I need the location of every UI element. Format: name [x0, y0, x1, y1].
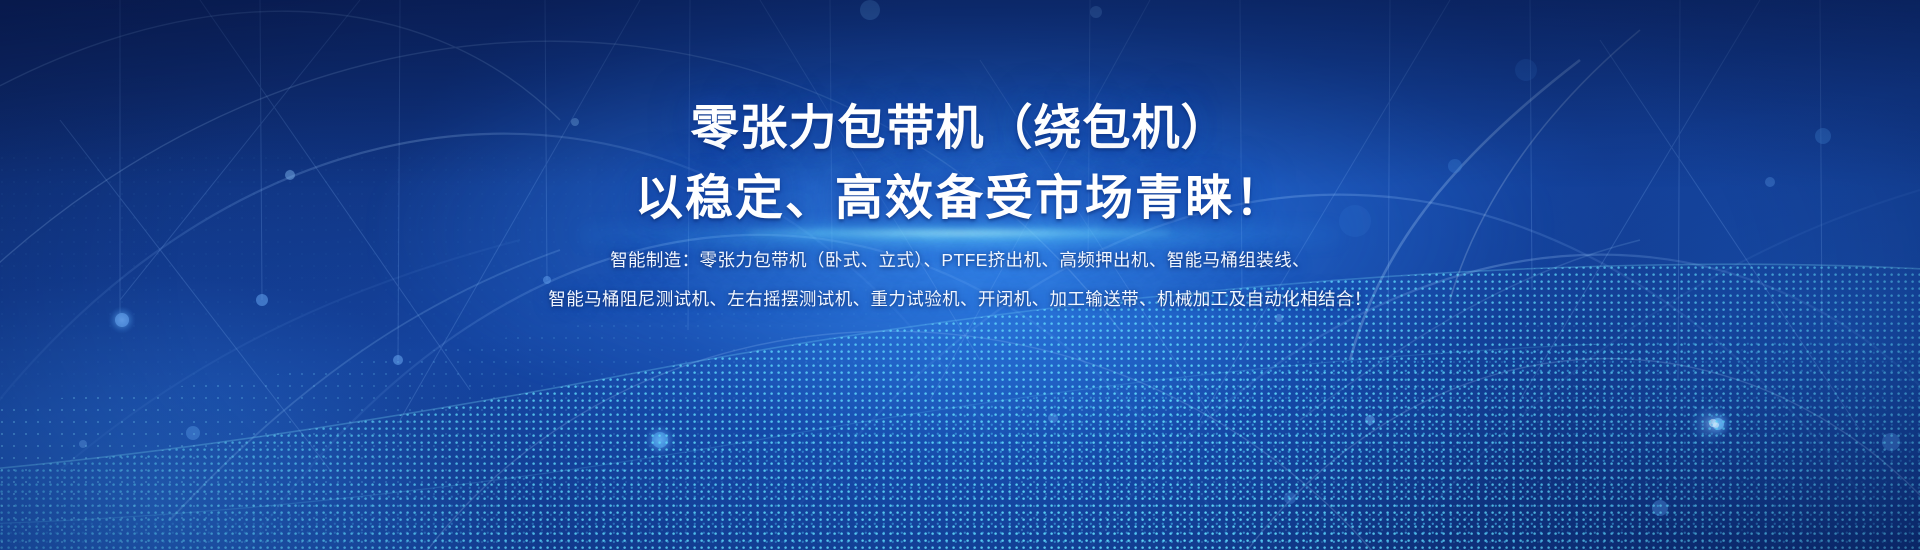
subtitle-line-1: 智能制造：零张力包带机（卧式、立式）、PTFE挤出机、高频押出机、智能马桶组装线…	[0, 247, 1920, 273]
headline-line-1: 零张力包带机（绕包机）	[0, 98, 1920, 160]
top-shade-overlay	[0, 0, 1920, 550]
subtitle-line-2: 智能马桶阻尼测试机、左右摇摆测试机、重力试验机、开闭机、加工输送带、机械加工及自…	[0, 286, 1920, 312]
promotional-banner: 零张力包带机（绕包机） 以稳定、高效备受市场青睐！ 智能制造：零张力包带机（卧式…	[0, 0, 1920, 550]
headline-line-2: 以稳定、高效备受市场青睐！	[0, 168, 1920, 230]
